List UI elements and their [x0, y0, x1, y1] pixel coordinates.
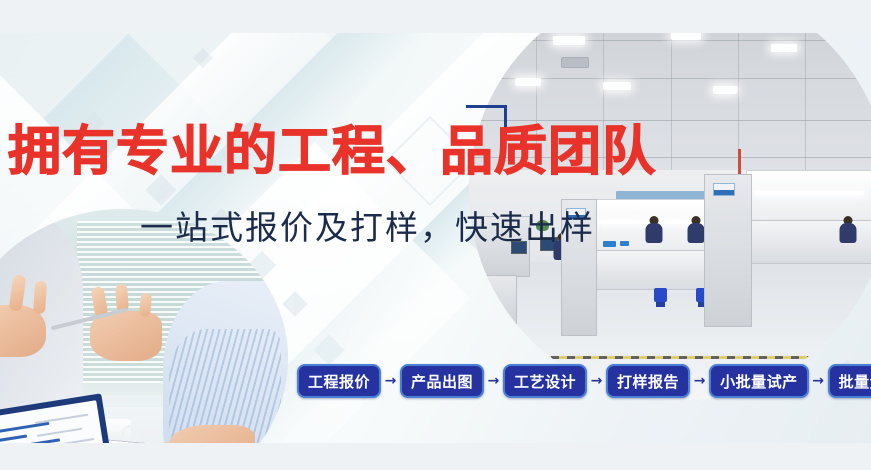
- process-step-label: 打样报告: [617, 371, 679, 392]
- process-step-label: 产品出图: [411, 371, 473, 392]
- process-step-4[interactable]: 打样报告: [606, 364, 690, 398]
- process-step-label: 工艺设计: [514, 371, 576, 392]
- flow-arrow-icon: →: [381, 374, 400, 388]
- process-step-label: 小批量试产: [720, 371, 798, 392]
- flow-arrow-icon: →: [484, 374, 503, 388]
- banner-stage: 拥有专业的工程、品质团队 一站式报价及打样，快速出样 工程报价 → 产品出图 →…: [0, 33, 871, 443]
- process-flow: 工程报价 → 产品出图 → 工艺设计 → 打样报告 → 小批量试产 → 批量量产: [297, 364, 871, 398]
- process-step-3[interactable]: 工艺设计: [503, 364, 587, 398]
- process-step-2[interactable]: 产品出图: [400, 364, 484, 398]
- process-step-6[interactable]: 批量量产: [828, 364, 871, 398]
- promo-banner: 拥有专业的工程、品质团队 一站式报价及打样，快速出样 工程报价 → 产品出图 →…: [0, 0, 871, 470]
- process-step-5[interactable]: 小批量试产: [709, 364, 809, 398]
- page-subtitle: 一站式报价及打样，快速出样: [140, 211, 595, 244]
- process-step-1[interactable]: 工程报价: [297, 364, 381, 398]
- process-step-label: 批量量产: [839, 371, 871, 392]
- bottom-margin-band: [0, 443, 871, 470]
- page-title: 拥有专业的工程、品质团队: [8, 125, 656, 178]
- flow-arrow-icon: →: [809, 374, 828, 388]
- process-step-label: 工程报价: [308, 371, 370, 392]
- flow-arrow-icon: →: [587, 374, 606, 388]
- flow-arrow-icon: →: [690, 374, 709, 388]
- top-margin-band: [0, 0, 871, 33]
